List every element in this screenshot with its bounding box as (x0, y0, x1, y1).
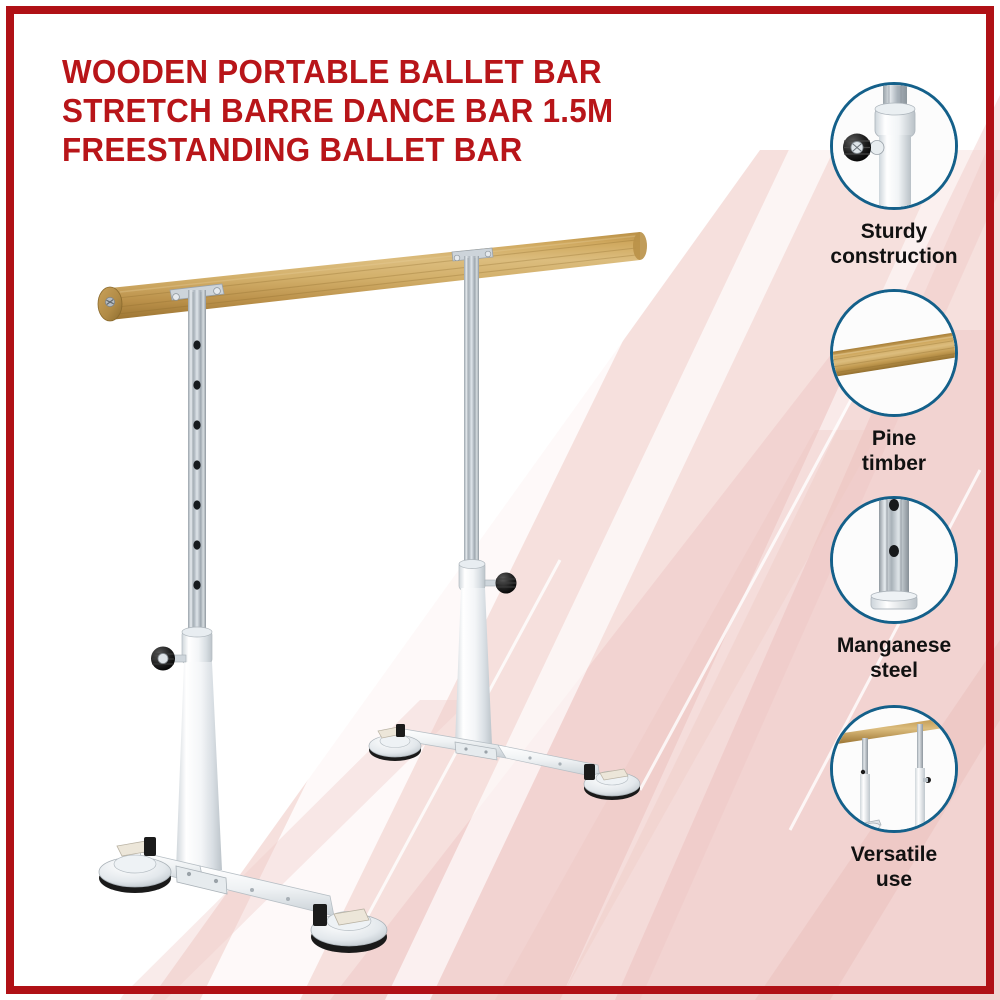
feature-label-pine-timber: Pine timber (862, 426, 926, 476)
feature-label-line-1: Sturdy (861, 220, 928, 243)
suction-cup-rear-left (369, 724, 421, 761)
feature-label-line-2: use (876, 868, 912, 891)
feature-label-versatile-use: Versatile use (851, 842, 937, 892)
feature-sturdy-construction: Sturdy construction (795, 82, 993, 269)
locking-knob-rear (485, 573, 517, 594)
title-line-1: WOODEN PORTABLE BALLET BAR (62, 52, 727, 91)
product-banner: WOODEN PORTABLE BALLET BAR STRETCH BARRE… (0, 0, 1000, 1000)
suction-cup-front-left (99, 837, 171, 893)
feature-image-pine-timber (830, 289, 958, 417)
product-image (0, 180, 790, 1000)
title-line-2: STRETCH BARRE DANCE BAR 1.5M (62, 91, 727, 130)
suction-cup-front-right (311, 904, 387, 953)
feature-label-line-1: Manganese (837, 634, 951, 657)
feature-label-line-1: Versatile (851, 843, 937, 866)
feature-image-versatile-use (830, 705, 958, 833)
wooden-barre (98, 232, 647, 321)
feature-label-line-2: steel (870, 659, 918, 682)
feature-label-manganese-steel: Manganese steel (837, 633, 951, 683)
feature-pine-timber: Pine timber (795, 289, 993, 476)
feature-manganese-steel: Manganese steel (795, 496, 993, 683)
feature-label-line-2: timber (862, 452, 926, 475)
front-leg-assembly (151, 284, 224, 870)
feature-callout-list: Sturdy construction (795, 60, 993, 960)
feature-image-manganese-steel (830, 496, 958, 624)
feature-label-line-2: construction (830, 245, 957, 268)
feature-label-line-1: Pine (872, 427, 916, 450)
page-title: WOODEN PORTABLE BALLET BAR STRETCH BARRE… (62, 52, 727, 169)
rear-leg-assembly (452, 248, 517, 745)
feature-label-sturdy-construction: Sturdy construction (830, 219, 957, 269)
rear-base-assembly (369, 724, 640, 800)
locking-knob-front (151, 647, 186, 671)
suction-cup-rear-right (584, 764, 640, 800)
front-base-assembly (99, 837, 387, 953)
feature-versatile-use: Versatile use (795, 705, 993, 892)
title-line-3: FREESTANDING BALLET BAR (62, 130, 727, 169)
feature-image-sturdy-construction (830, 82, 958, 210)
